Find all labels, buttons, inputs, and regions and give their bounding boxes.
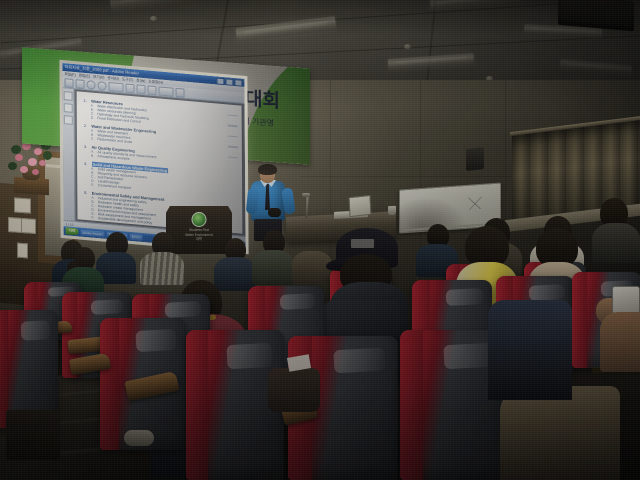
sprinkler-head <box>404 44 411 49</box>
maximize-icon[interactable] <box>225 78 233 86</box>
seat-side-cushion <box>400 330 423 480</box>
seat-side-cushion <box>186 330 208 480</box>
section-number: 5. <box>84 191 89 195</box>
minimize-icon[interactable] <box>216 77 224 85</box>
select-tool-icon[interactable] <box>137 84 146 94</box>
audience-member-legs <box>500 386 620 480</box>
start-button[interactable]: 시작 <box>66 227 79 235</box>
save-icon[interactable] <box>65 78 74 88</box>
seat-side-cushion <box>572 272 587 368</box>
seat-side-cushion <box>100 318 119 450</box>
search-icon[interactable] <box>148 85 157 95</box>
section-number: 2. <box>84 124 89 128</box>
auditorium-photo: 2 술대회 일시 주최 기관명 학회자료_최종_2009.pdf - Adobe… <box>0 0 640 480</box>
attachments-icon[interactable] <box>64 115 73 125</box>
section-number: 1. <box>84 99 89 103</box>
zoom-level-field[interactable] <box>109 82 124 92</box>
zoom-in-icon[interactable] <box>98 81 107 91</box>
subsection-number: B. <box>91 153 95 157</box>
shoe <box>124 430 154 446</box>
ceiling-light-fixture <box>524 24 602 39</box>
audience-member <box>252 230 294 284</box>
backpack <box>268 368 320 412</box>
water-cup <box>388 206 396 215</box>
whiteboard-marking <box>468 197 482 210</box>
audience-member-arm <box>600 312 640 372</box>
ceiling-light-fixture <box>110 0 221 12</box>
wall-outlet <box>17 243 28 259</box>
seat-highlight <box>280 293 316 310</box>
audience-member <box>292 232 332 282</box>
audience-member-striped <box>140 232 184 284</box>
ceiling-light-fixture <box>430 0 521 11</box>
seat-highlight <box>136 329 177 352</box>
audience-member <box>592 198 640 260</box>
pages-thumbnail-icon[interactable] <box>64 103 73 113</box>
seat-highlight <box>164 301 201 318</box>
laptop-screen <box>348 195 371 217</box>
cap-logo <box>351 239 375 248</box>
subsection-number: C. <box>91 136 95 140</box>
subsection-number: F. <box>91 216 95 220</box>
hand-tool-icon[interactable] <box>126 83 135 93</box>
shoulders <box>252 250 294 285</box>
sprinkler-head <box>150 16 157 21</box>
podium-emblem-icon <box>192 212 207 227</box>
seat-highlight <box>443 342 492 368</box>
section-number: 3. <box>84 145 89 149</box>
seat-highlight <box>334 348 386 374</box>
wall-mounted-speaker <box>466 147 484 171</box>
mobile-phone[interactable] <box>612 286 640 314</box>
presenter-held-object <box>268 208 281 217</box>
section-number: 4. <box>84 162 89 166</box>
seat-highlight <box>91 299 124 314</box>
ceiling-projector <box>558 0 634 31</box>
bookmarks-icon[interactable] <box>64 91 73 101</box>
subsection-number: D. <box>91 115 95 119</box>
page-right-column-marks <box>228 114 238 167</box>
seat-highlight <box>227 342 273 368</box>
seat-highlight <box>445 288 483 306</box>
presenter <box>248 166 292 240</box>
subsection-number: E. <box>91 183 95 187</box>
light-switch-plate[interactable] <box>8 217 36 234</box>
ceiling-light-fixture <box>388 53 475 70</box>
ceiling-light-fixture <box>236 16 337 42</box>
print-icon[interactable] <box>76 79 85 89</box>
ceiling-light-fixture <box>560 59 633 75</box>
fit-page-icon[interactable] <box>176 87 185 97</box>
seat-highlight <box>20 320 50 340</box>
seat-highlight <box>528 284 565 301</box>
seat-armrest <box>6 410 60 460</box>
navigation-pane[interactable] <box>63 88 76 221</box>
light-switch-plate[interactable] <box>14 197 31 213</box>
microphone-head <box>302 193 310 197</box>
zoom-out-icon[interactable] <box>87 80 96 90</box>
presenter-hair <box>258 164 277 175</box>
audience-member-torso <box>488 300 572 400</box>
page-number-field[interactable] <box>159 86 174 96</box>
close-icon[interactable] <box>234 79 242 87</box>
shoulders <box>592 223 640 263</box>
